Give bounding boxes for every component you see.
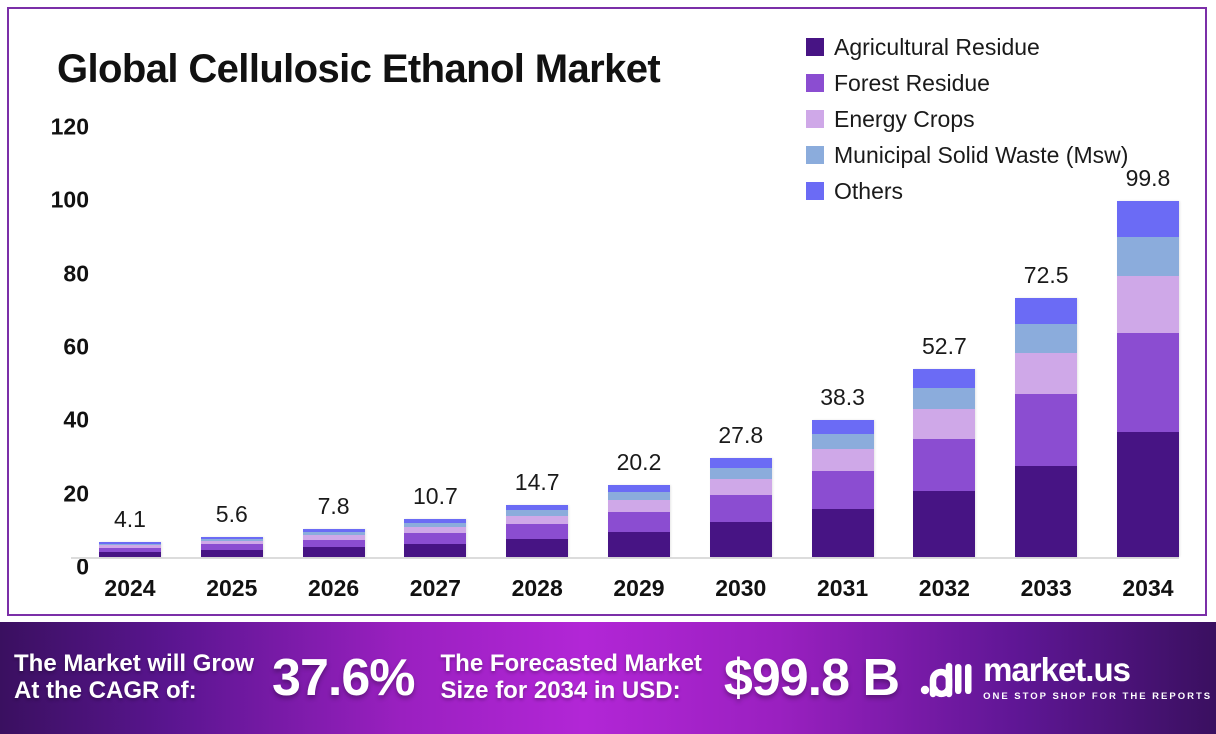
bar-stack[interactable] bbox=[99, 542, 161, 557]
bar-segment[interactable] bbox=[608, 532, 670, 557]
bar-segment[interactable] bbox=[913, 491, 975, 557]
bar-segment[interactable] bbox=[812, 434, 874, 449]
bar-stack[interactable] bbox=[1015, 298, 1077, 557]
bar-column[interactable]: 4.1 bbox=[94, 129, 166, 557]
bar-stack[interactable] bbox=[608, 485, 670, 557]
bar-segment[interactable] bbox=[506, 516, 568, 524]
logo-tagline: ONE STOP SHOP FOR THE REPORTS bbox=[983, 691, 1212, 702]
x-axis-labels: 2024202520262027202820292030203120322033… bbox=[94, 575, 1184, 602]
bar-segment[interactable] bbox=[1015, 324, 1077, 352]
bar-total-label: 20.2 bbox=[603, 449, 675, 476]
bar-total-label: 10.7 bbox=[399, 483, 471, 510]
bar-total-label: 5.6 bbox=[196, 501, 268, 528]
bar-segment[interactable] bbox=[812, 420, 874, 434]
bar-series-group: 4.15.67.810.714.720.227.838.352.772.599.… bbox=[94, 129, 1184, 557]
bar-column[interactable]: 20.2 bbox=[603, 129, 675, 557]
x-axis-tick-label: 2024 bbox=[94, 575, 166, 602]
forecast-caption-line1: The Forecasted Market bbox=[441, 651, 702, 678]
bar-column[interactable]: 27.8 bbox=[705, 129, 777, 557]
bar-segment[interactable] bbox=[812, 509, 874, 557]
bar-segment[interactable] bbox=[608, 485, 670, 492]
bar-segment[interactable] bbox=[913, 439, 975, 492]
bar-segment[interactable] bbox=[201, 550, 263, 557]
bar-total-label: 7.8 bbox=[298, 493, 370, 520]
forecast-caption: The Forecasted Market Size for 2034 in U… bbox=[441, 651, 702, 705]
plot-area: 020406080100120 4.15.67.810.714.720.227.… bbox=[9, 9, 1209, 618]
logo-wordmark: market.us bbox=[983, 651, 1130, 688]
bar-segment[interactable] bbox=[913, 409, 975, 439]
infographic-root: Global Cellulosic Ethanol Market Agricul… bbox=[0, 0, 1216, 734]
bar-column[interactable]: 99.8 bbox=[1112, 129, 1184, 557]
bar-segment[interactable] bbox=[303, 547, 365, 557]
y-axis-tick-label: 100 bbox=[51, 187, 89, 214]
x-axis-tick-label: 2027 bbox=[399, 575, 471, 602]
y-axis-tick-label: 20 bbox=[63, 480, 89, 507]
bar-total-label: 14.7 bbox=[501, 469, 573, 496]
x-axis-tick-label: 2028 bbox=[501, 575, 573, 602]
bar-total-label: 4.1 bbox=[94, 506, 166, 533]
forecast-caption-line2: Size for 2034 in USD: bbox=[441, 678, 702, 705]
bar-column[interactable]: 38.3 bbox=[807, 129, 879, 557]
x-axis-tick-label: 2030 bbox=[705, 575, 777, 602]
cagr-caption-line1: The Market will Grow bbox=[14, 651, 254, 678]
y-axis-tick-label: 40 bbox=[63, 407, 89, 434]
bar-total-label: 72.5 bbox=[1010, 262, 1082, 289]
bar-segment[interactable] bbox=[1117, 201, 1179, 237]
bar-segment[interactable] bbox=[404, 533, 466, 544]
cagr-value: 37.6% bbox=[272, 648, 414, 708]
bar-segment[interactable] bbox=[303, 540, 365, 548]
y-axis-tick-label: 80 bbox=[63, 260, 89, 287]
logo-text-block: market.us ONE STOP SHOP FOR THE REPORTS bbox=[983, 653, 1216, 704]
bar-column[interactable]: 14.7 bbox=[501, 129, 573, 557]
bar-total-label: 27.8 bbox=[705, 422, 777, 449]
x-axis-tick-label: 2032 bbox=[908, 575, 980, 602]
bar-total-label: 99.8 bbox=[1112, 165, 1184, 192]
cagr-caption: The Market will Grow At the CAGR of: bbox=[14, 651, 254, 705]
bar-stack[interactable] bbox=[913, 369, 975, 557]
bar-segment[interactable] bbox=[1117, 432, 1179, 557]
bar-column[interactable]: 72.5 bbox=[1010, 129, 1082, 557]
bar-stack[interactable] bbox=[201, 537, 263, 557]
bar-segment[interactable] bbox=[608, 500, 670, 512]
bar-segment[interactable] bbox=[506, 539, 568, 557]
bar-segment[interactable] bbox=[913, 369, 975, 388]
bar-segment[interactable] bbox=[1015, 394, 1077, 466]
x-axis-tick-label: 2026 bbox=[298, 575, 370, 602]
bar-segment[interactable] bbox=[404, 544, 466, 557]
chart-frame: Global Cellulosic Ethanol Market Agricul… bbox=[7, 7, 1207, 616]
bar-segment[interactable] bbox=[710, 479, 772, 495]
cagr-caption-line2: At the CAGR of: bbox=[14, 678, 254, 705]
bar-segment[interactable] bbox=[710, 495, 772, 523]
forecast-value: $99.8 B bbox=[724, 648, 899, 708]
bar-column[interactable]: 7.8 bbox=[298, 129, 370, 557]
bar-segment[interactable] bbox=[913, 388, 975, 409]
bar-stack[interactable] bbox=[812, 420, 874, 557]
bar-segment[interactable] bbox=[608, 492, 670, 500]
bar-segment[interactable] bbox=[710, 468, 772, 479]
bar-column[interactable]: 5.6 bbox=[196, 129, 268, 557]
x-axis-tick-label: 2025 bbox=[196, 575, 268, 602]
bar-segment[interactable] bbox=[812, 449, 874, 471]
bar-stack[interactable] bbox=[506, 505, 568, 557]
y-axis: 020406080100120 bbox=[27, 127, 89, 567]
x-axis-tick-label: 2029 bbox=[603, 575, 675, 602]
bar-segment[interactable] bbox=[812, 471, 874, 509]
bar-segment[interactable] bbox=[1015, 466, 1077, 557]
bar-segment[interactable] bbox=[608, 512, 670, 532]
bar-segment[interactable] bbox=[1117, 237, 1179, 276]
bar-stack[interactable] bbox=[303, 529, 365, 557]
bar-segment[interactable] bbox=[506, 524, 568, 539]
bar-segment[interactable] bbox=[1117, 276, 1179, 333]
market-us-logo: market.us ONE STOP SHOP FOR THE REPORTS bbox=[919, 653, 1216, 704]
bar-stack[interactable] bbox=[710, 458, 772, 557]
bar-total-label: 52.7 bbox=[908, 333, 980, 360]
bar-segment[interactable] bbox=[99, 552, 161, 557]
x-axis-baseline bbox=[71, 557, 1179, 559]
market-us-logo-mark-icon bbox=[919, 656, 975, 700]
bar-column[interactable]: 10.7 bbox=[399, 129, 471, 557]
x-axis-tick-label: 2034 bbox=[1112, 575, 1184, 602]
bar-stack[interactable] bbox=[404, 519, 466, 557]
bar-segment[interactable] bbox=[1117, 333, 1179, 433]
bar-segment[interactable] bbox=[1015, 353, 1077, 394]
x-axis-tick-label: 2033 bbox=[1010, 575, 1082, 602]
x-axis-tick-label: 2031 bbox=[807, 575, 879, 602]
bar-segment[interactable] bbox=[710, 458, 772, 468]
bar-segment[interactable] bbox=[710, 522, 772, 557]
bar-total-label: 38.3 bbox=[807, 384, 879, 411]
bar-stack[interactable] bbox=[1117, 201, 1179, 557]
summary-banner: The Market will Grow At the CAGR of: 37.… bbox=[0, 622, 1216, 734]
bar-column[interactable]: 52.7 bbox=[908, 129, 980, 557]
y-axis-tick-label: 60 bbox=[63, 334, 89, 361]
y-axis-tick-label: 120 bbox=[51, 114, 89, 141]
bar-segment[interactable] bbox=[1015, 298, 1077, 324]
